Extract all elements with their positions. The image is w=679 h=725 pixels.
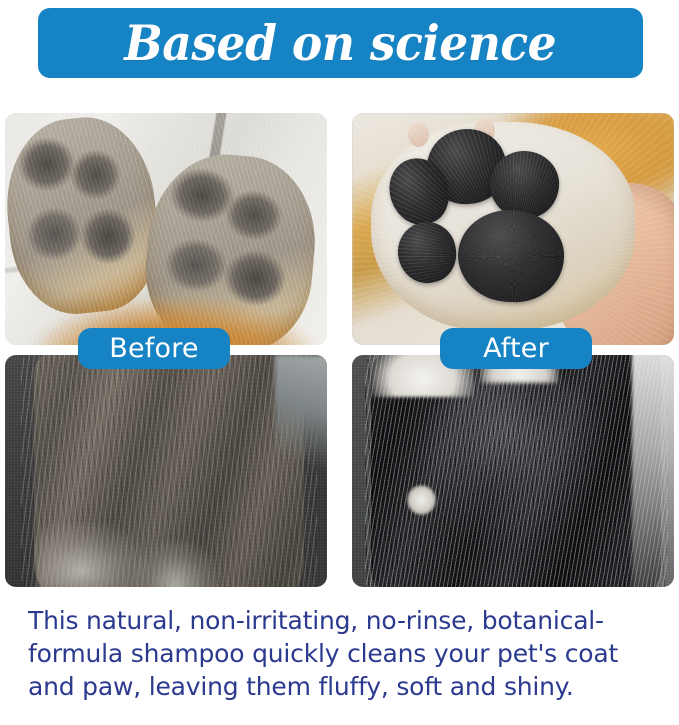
photo-after-coat	[352, 355, 674, 587]
description-line: formula shampoo quickly cleans your pet'…	[28, 637, 660, 670]
badge-after-label: After	[483, 335, 549, 362]
photo-before-coat	[5, 355, 327, 587]
badge-before-label: Before	[109, 335, 198, 362]
coat-white-stripe	[632, 355, 674, 587]
photo-before-paws	[5, 113, 327, 345]
fur-texture-overlay	[5, 113, 327, 345]
photo-after-paw	[352, 113, 674, 345]
product-description: This natural, non-irritating, no-rinse, …	[28, 604, 660, 703]
header-banner: Based on science	[38, 8, 643, 78]
dull-tint-overlay	[5, 355, 327, 587]
coat-white-patch	[407, 485, 436, 515]
badge-after: After	[440, 328, 592, 369]
description-line: and paw, leaving them fluffy, soft and s…	[28, 670, 660, 703]
fur-texture-overlay	[352, 113, 674, 345]
page-title: Based on science	[125, 19, 557, 68]
badge-before: Before	[78, 328, 230, 369]
description-line: This natural, non-irritating, no-rinse, …	[28, 604, 660, 637]
